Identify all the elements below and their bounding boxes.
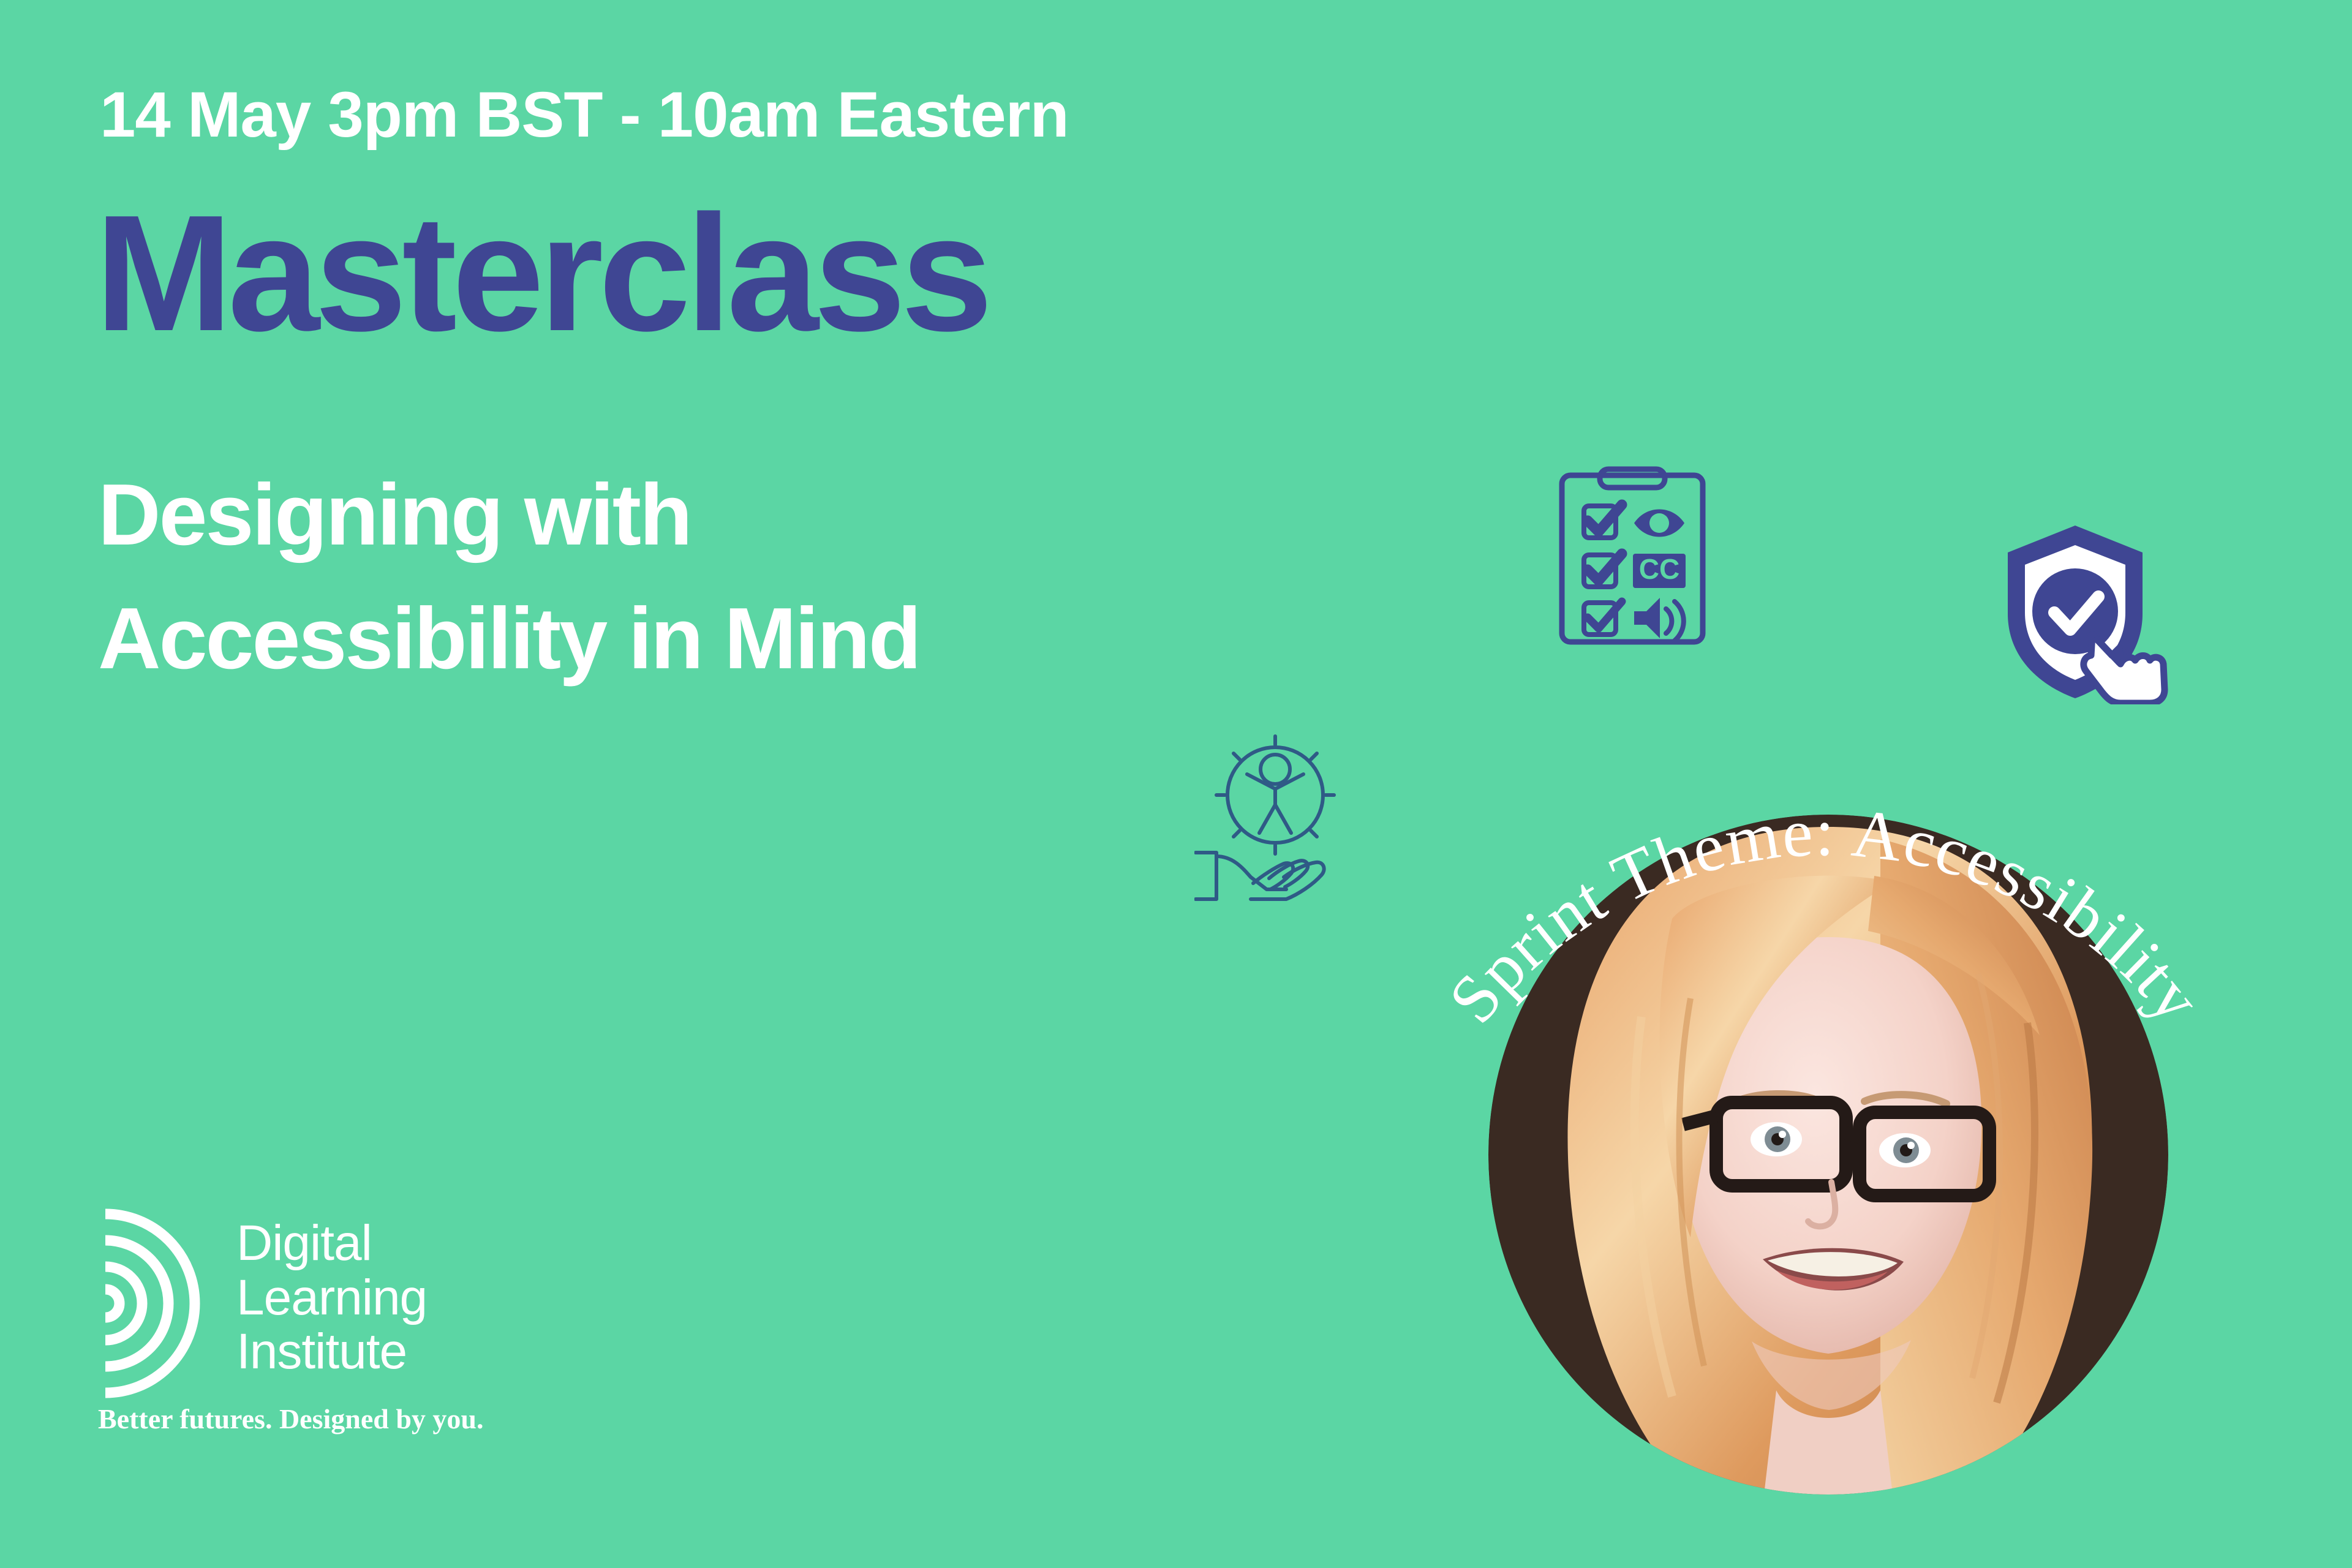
hand-holding-accessibility-icon: [1194, 723, 1354, 907]
logo-wordmark: Digital Learning Institute: [236, 1216, 427, 1379]
event-date-time: 14 May 3pm BST - 10am Eastern: [100, 78, 1069, 152]
logo-word-3: Institute: [236, 1325, 427, 1379]
subtitle-block: Designing with Accessibility in Mind: [98, 453, 920, 700]
subtitle-line-2: Accessibility in Mind: [98, 577, 920, 701]
speaker-portrait: [1488, 815, 2168, 1494]
speaker-portrait-group: Sprint Theme: Accessibility: [1372, 753, 2278, 1525]
accessibility-checklist-icon: CC: [1556, 464, 1709, 648]
page-title: Masterclass: [95, 191, 988, 356]
masterclass-promo-poster: 14 May 3pm BST - 10am Eastern Masterclas…: [0, 0, 2352, 1568]
concentric-arcs-mark-icon: [97, 1205, 219, 1401]
logo-tagline: Better futures. Designed by you.: [98, 1403, 484, 1435]
cc-badge-label: CC: [1639, 553, 1679, 585]
brand-logo: Digital Learning Institute Better future…: [97, 1205, 477, 1450]
shield-check-cursor-icon: [1989, 514, 2185, 704]
logo-word-1: Digital: [236, 1216, 427, 1271]
logo-word-2: Learning: [236, 1271, 427, 1325]
subtitle-line-1: Designing with: [98, 453, 920, 577]
